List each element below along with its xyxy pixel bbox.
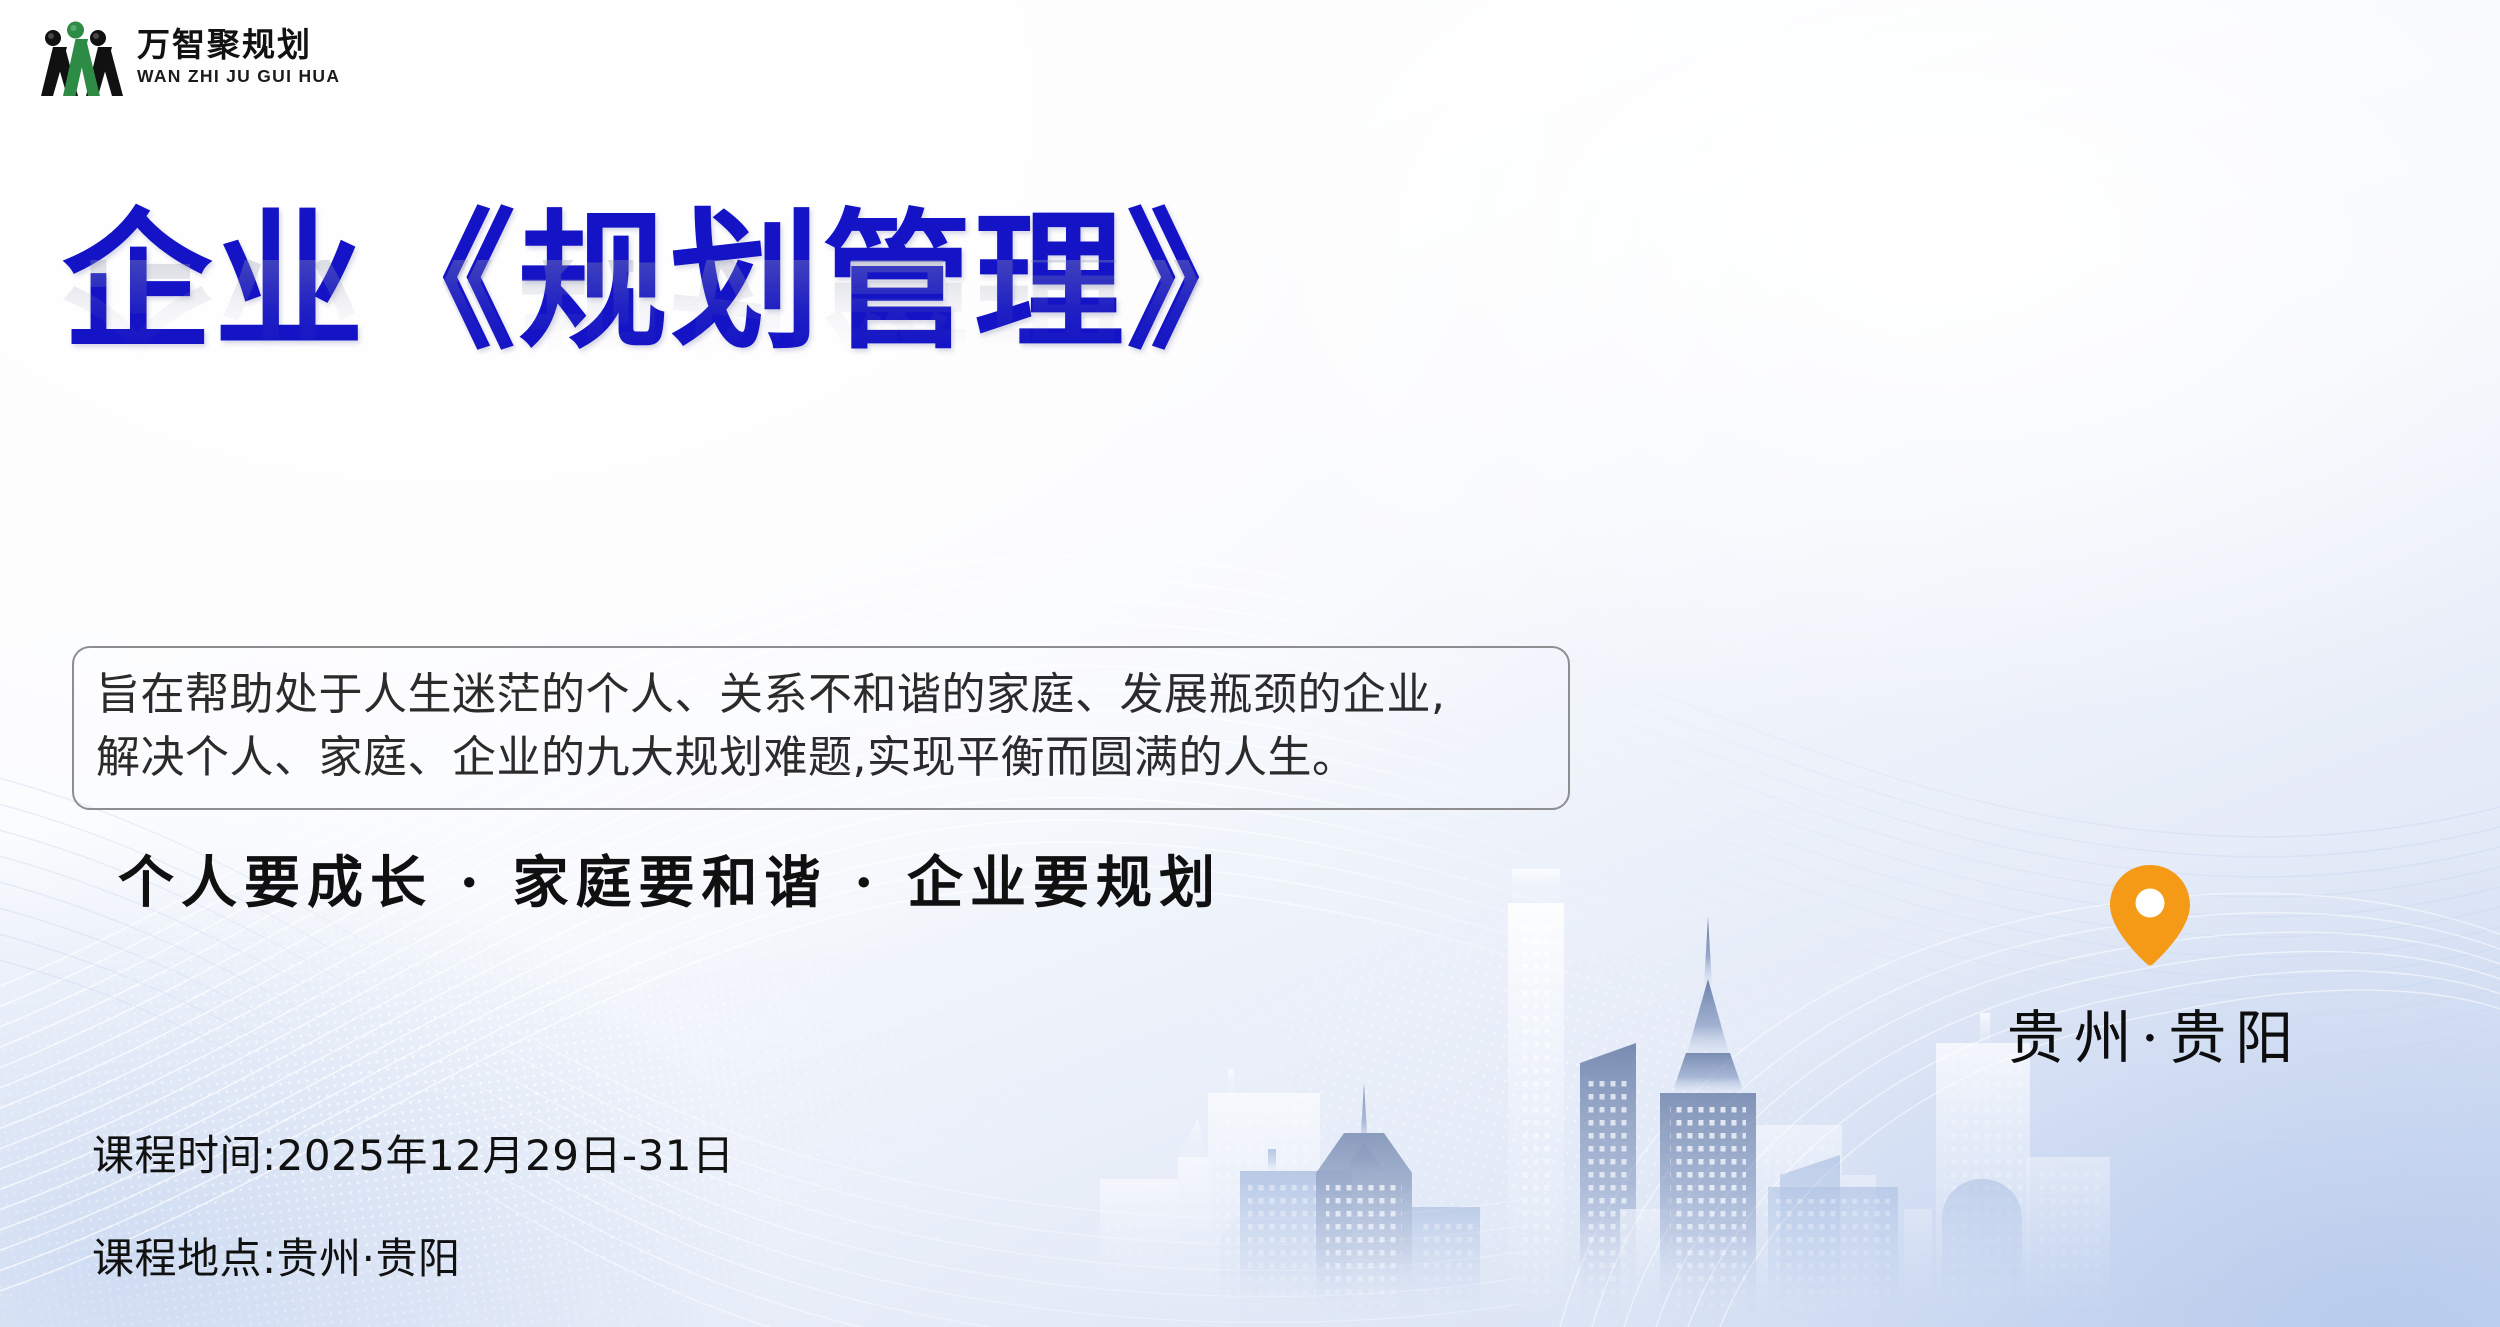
page-title: 企业《规划管理》 [62,196,1662,370]
description-line-1: 旨在帮助处于人生迷茫的个人、关系不和谐的家庭、发展瓶颈的企业, [96,664,1546,727]
logo-chinese-name: 万智聚规划 [137,28,340,61]
course-place: 课程地点:贵州·贵阳 [92,1225,735,1286]
slogan-text: 个人要成长 · 家庭要和谐 · 企业要规划 [118,838,1222,919]
description-line-2: 解决个人、家庭、企业的九大规划难题,实现平衡而圆满的人生。 [96,727,1546,790]
course-info-group: 课程时间:2025年12月29日-31日 课程地点:贵州·贵阳 [92,1122,735,1286]
description-box: 旨在帮助处于人生迷茫的个人、关系不和谐的家庭、发展瓶颈的企业, 解决个人、家庭、… [72,646,1570,810]
hero-title-block: 企业《规划管理》 企业《规划管理》 [62,196,1662,468]
three-people-logo-icon [28,18,123,96]
course-time: 课程时间:2025年12月29日-31日 [92,1122,735,1183]
logo-pinyin: WAN ZHI JU GUI HUA [137,68,340,86]
map-pin-icon [2104,862,2196,967]
brand-logo[interactable]: 万智聚规划 WAN ZHI JU GUI HUA [28,18,340,96]
location-group: 贵州·贵阳 [1940,862,2360,1075]
city-label: 贵州·贵阳 [1998,991,2302,1075]
promo-banner: 万智聚规划 WAN ZHI JU GUI HUA 企业《规划管理》 企业《规划管… [0,0,2500,1327]
logo-text-group: 万智聚规划 WAN ZHI JU GUI HUA [137,28,340,86]
